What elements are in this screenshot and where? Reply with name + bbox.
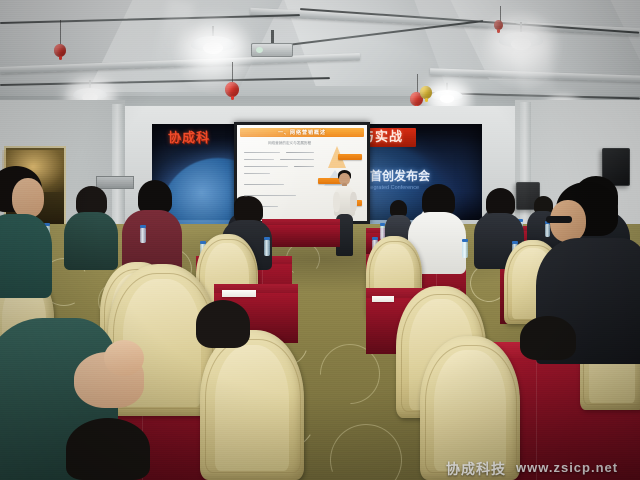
- hair: [486, 188, 515, 216]
- slide-text-line: [244, 152, 280, 153]
- lamp-bulb: [203, 42, 223, 54]
- balloon-red-1: [54, 44, 66, 57]
- water-bottle: [140, 228, 146, 243]
- projector-lens: [256, 47, 263, 53]
- foreground-person-center-head: [196, 300, 256, 360]
- bottle-cap: [380, 223, 385, 226]
- chair-trim: [425, 345, 517, 474]
- presenter-arm-left: [333, 192, 340, 212]
- foreground-person-left-head: [0, 166, 54, 296]
- hair: [138, 180, 172, 214]
- lamp-bulb: [440, 94, 454, 103]
- slide-text-line: [280, 159, 314, 160]
- audience-member-mid-2: [64, 186, 118, 268]
- balloon-red-2: [225, 82, 239, 97]
- watermark-url: www.zsicp.net: [516, 460, 618, 475]
- slide-text-line: [244, 166, 288, 167]
- ceiling-projector: [251, 43, 293, 57]
- slide-text-line: [244, 173, 270, 174]
- watermark-brand: 协成科技: [446, 459, 506, 479]
- paper-sheet: [372, 296, 394, 302]
- eyeglasses: [546, 216, 572, 223]
- hair: [520, 316, 576, 360]
- balloon-string-2: [232, 62, 233, 84]
- presenter-arm-right: [350, 192, 357, 212]
- slide-text-line: [244, 184, 284, 185]
- slide-text-line: [286, 152, 314, 153]
- hair: [66, 418, 150, 480]
- hair: [196, 300, 250, 348]
- slide-header-band: 一、网络营销概述: [240, 128, 364, 137]
- slide-caption: 网络营销的定义与发展历程: [268, 141, 311, 146]
- bottle-cap: [140, 225, 146, 228]
- lamp-bulb: [511, 38, 531, 50]
- foreground-person-right-lower-head: [520, 316, 582, 362]
- conference-room-photo: 协成科 与实战 下首创发布会 IT Integrated Conference …: [0, 0, 640, 480]
- hair: [234, 196, 263, 223]
- torso: [0, 214, 52, 298]
- slide-chip-1: [338, 154, 362, 160]
- hand: [104, 340, 144, 376]
- projector-mount-arm: [271, 30, 274, 44]
- slide-text-line: [294, 166, 314, 167]
- bottle-cap: [264, 237, 270, 240]
- balloon-string-1: [60, 20, 61, 46]
- backdrop-title-left: 协成科: [168, 131, 210, 144]
- water-bottle: [264, 240, 270, 256]
- foreground-person-bottom-left-head: [66, 418, 156, 480]
- carpet-swirl: [318, 412, 414, 480]
- bottle-cap: [462, 239, 468, 242]
- head: [12, 178, 44, 218]
- slide-text-line: [244, 159, 274, 160]
- water-bottle: [462, 242, 468, 258]
- paper-sheet: [222, 290, 256, 297]
- balloon-string-3: [417, 74, 418, 94]
- balloon-red-4: [494, 20, 503, 30]
- slide-header-text: 一、网络营销概述: [278, 129, 326, 136]
- balloon-yellow-1: [420, 86, 432, 99]
- audience-member-mid-1: [122, 180, 182, 272]
